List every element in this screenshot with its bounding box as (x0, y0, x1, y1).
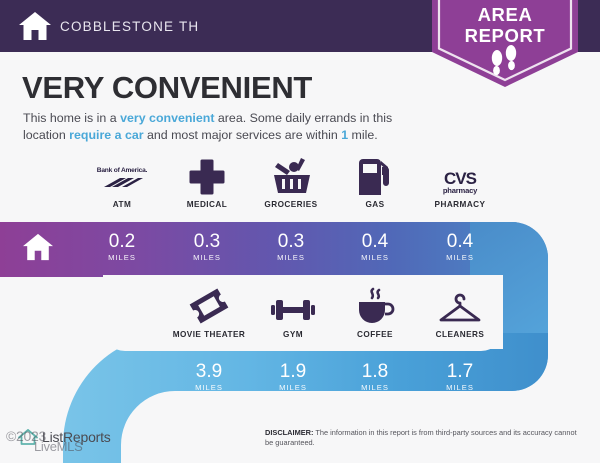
distance-unit: MILES (167, 253, 247, 262)
distance-value: 0.4 (335, 232, 415, 252)
icon-row-primary: Bank of America. ATM MEDI (0, 155, 600, 217)
area-report-page: COBBLESTONE TH AREA REPORT VERY CONVENIE… (0, 0, 600, 463)
category-atm: Bank of America. ATM (82, 155, 162, 209)
property-name: COBBLESTONE TH (60, 19, 199, 34)
distance-value: 0.3 (167, 232, 247, 252)
badge-line1: AREA (432, 4, 578, 25)
category-label: GAS (335, 200, 415, 209)
boa-flag-icon (100, 174, 144, 190)
category-label: CLEANERS (418, 330, 502, 339)
category-gas: GAS (335, 155, 415, 209)
distance-row-primary: 0.2 MILES 0.3 MILES 0.3 MILES 0.4 MILES … (0, 222, 600, 274)
distance-value: 1.7 (418, 362, 502, 382)
badge-text: AREA REPORT (432, 4, 578, 46)
distance-pharmacy: 0.4 MILES (418, 232, 502, 262)
distance-unit: MILES (82, 253, 162, 262)
category-groceries: GROCERIES (251, 155, 331, 209)
distance-value: 0.2 (82, 232, 162, 252)
category-label: GYM (255, 330, 331, 339)
summary-part3: and most major services are within (144, 128, 342, 142)
badge-line2: REPORT (432, 25, 578, 46)
bank-of-america-logo: Bank of America. (82, 155, 162, 195)
summary-highlight-convenient: very convenient (120, 111, 214, 125)
watermark-source: LiveMLS (34, 439, 82, 454)
category-label: COFFEE (335, 330, 415, 339)
category-coffee: COFFEE (335, 285, 415, 339)
distance-value: 3.9 (167, 362, 251, 382)
home-icon (18, 10, 52, 42)
movie-ticket-icon (167, 285, 251, 325)
distance-value: 1.8 (335, 362, 415, 382)
medical-cross-icon (167, 155, 247, 195)
distance-gas: 0.4 MILES (335, 232, 415, 262)
category-label: MOVIE THEATER (167, 330, 251, 339)
distance-medical: 0.3 MILES (167, 232, 247, 262)
dumbbell-icon (255, 285, 331, 325)
distance-unit: MILES (418, 253, 502, 262)
distance-groceries: 0.3 MILES (251, 232, 331, 262)
clothes-hanger-icon (418, 285, 502, 325)
summary-part1: This home is in a (23, 111, 120, 125)
distance-movie-theater: 3.9 MILES (167, 362, 251, 392)
category-label: MEDICAL (167, 200, 247, 209)
category-movie-theater: MOVIE THEATER (167, 285, 251, 339)
distance-coffee: 1.8 MILES (335, 362, 415, 392)
category-label: ATM (82, 200, 162, 209)
watermark: ©2023 LiveMLS (6, 428, 46, 444)
category-cleaners: CLEANERS (418, 285, 502, 339)
distance-unit: MILES (251, 253, 331, 262)
page-title: VERY CONVENIENT (22, 70, 312, 106)
disclaimer: DISCLAIMER: The information in this repo… (265, 428, 585, 448)
cvs-pharmacy-logo: CVS pharmacy (418, 155, 502, 195)
category-label: PHARMACY (418, 200, 502, 209)
coffee-cup-icon (335, 285, 415, 325)
category-gym: GYM (255, 285, 331, 339)
boa-wordmark: Bank of America. (97, 167, 147, 174)
distance-unit: MILES (335, 383, 415, 392)
distance-unit: MILES (255, 383, 331, 392)
distance-unit: MILES (418, 383, 502, 392)
distance-value: 0.4 (418, 232, 502, 252)
gas-pump-icon (335, 155, 415, 195)
distance-row-secondary: 3.9 MILES 1.9 MILES 1.8 MILES 1.7 MILES (0, 352, 600, 404)
cvs-subword: pharmacy (443, 186, 477, 195)
disclaimer-label: DISCLAIMER: (265, 428, 313, 437)
distance-unit: MILES (167, 383, 251, 392)
distance-cleaners: 1.7 MILES (418, 362, 502, 392)
summary-part4: mile. (348, 128, 378, 142)
category-pharmacy: CVS pharmacy PHARMACY (418, 155, 502, 209)
distance-unit: MILES (335, 253, 415, 262)
area-report-badge: AREA REPORT (432, 0, 578, 87)
distance-gym: 1.9 MILES (255, 362, 331, 392)
summary-text: This home is in a very convenient area. … (23, 110, 438, 144)
category-label: GROCERIES (251, 200, 331, 209)
distance-value: 0.3 (251, 232, 331, 252)
category-medical: MEDICAL (167, 155, 247, 209)
icon-row-secondary: MOVIE THEATER GYM (0, 285, 600, 347)
cvs-wordmark: CVS (443, 171, 477, 186)
distance-atm: 0.2 MILES (82, 232, 162, 262)
home-icon (22, 232, 54, 262)
grocery-basket-icon (251, 155, 331, 195)
summary-highlight-car: require a car (69, 128, 143, 142)
distance-value: 1.9 (255, 362, 331, 382)
